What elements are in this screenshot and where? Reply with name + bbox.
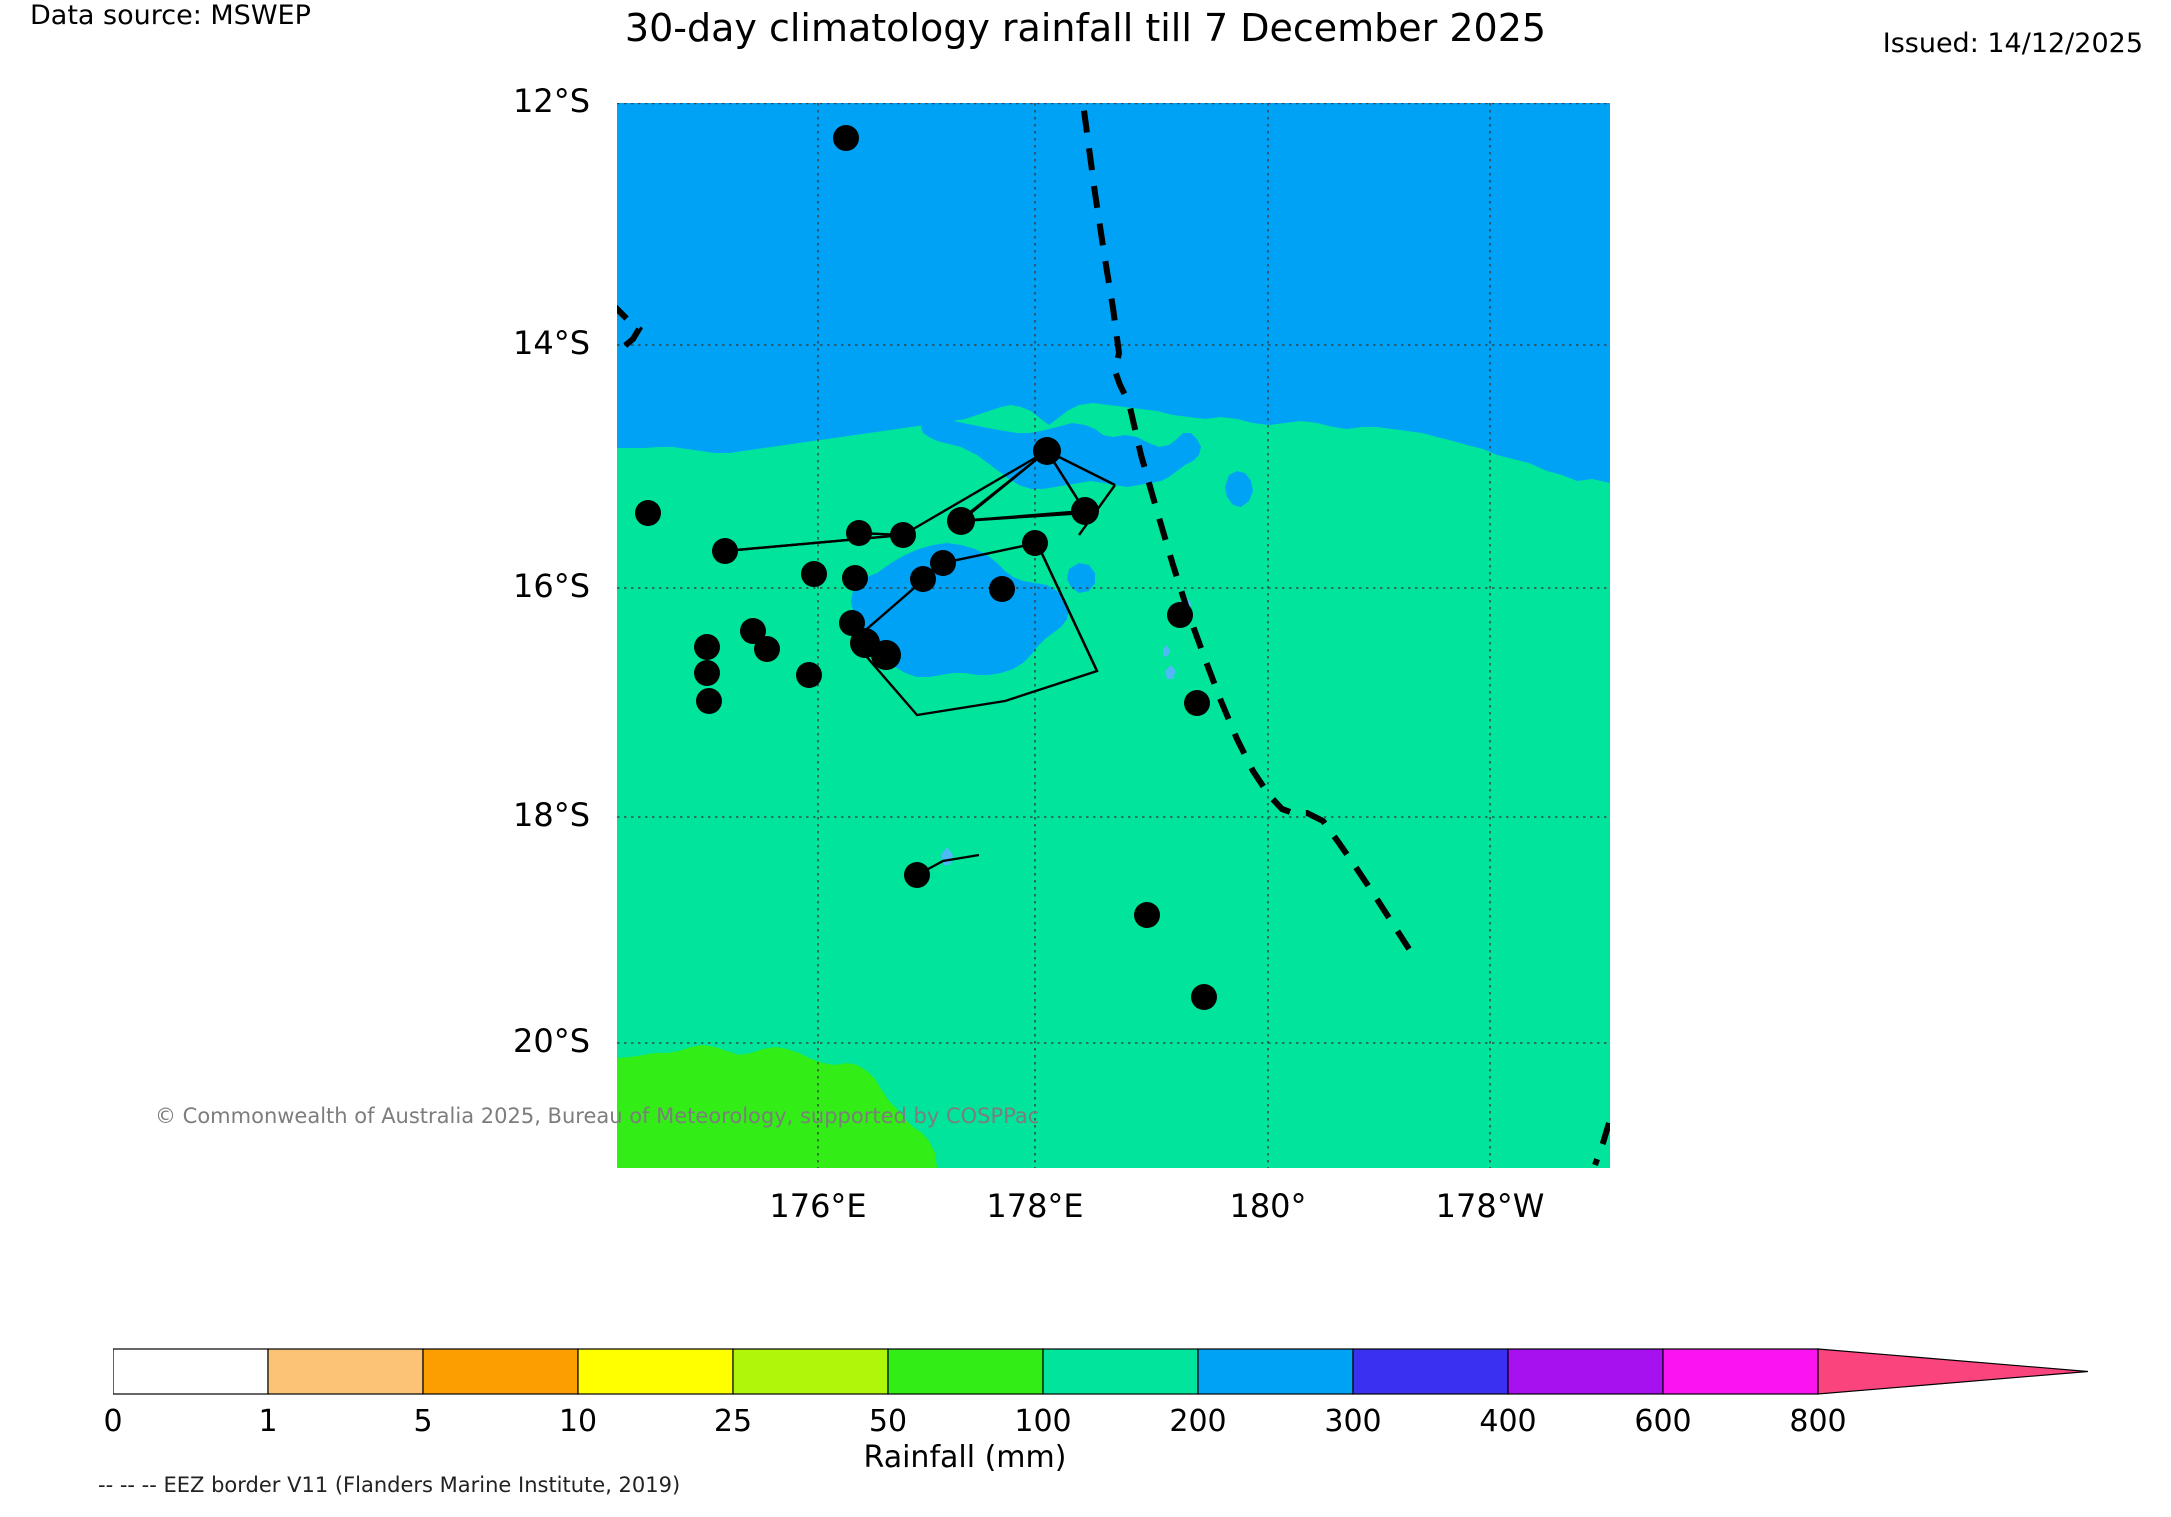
xtick-label-180: 180° [1229,1187,1306,1225]
colorbar-segment-10-25 [578,1349,733,1394]
colorbar-segment-100-200 [1043,1349,1198,1394]
station-dot [754,636,780,662]
station-dot [846,520,872,546]
colorbar-tick-25: 25 [714,1404,752,1439]
colorbar-segment-400-600 [1508,1349,1663,1394]
map-canvas [617,103,1610,1168]
colorbar [113,1348,2088,1396]
station-dot [1184,690,1210,716]
station-dot [904,862,930,888]
station-dot [1071,497,1099,525]
station-dot [1134,902,1160,928]
station-dot [842,565,868,591]
ytick-label-12S: 12°S [400,82,590,120]
colorbar-tick-100: 100 [1014,1404,1071,1439]
ytick-label-16S: 16°S [400,567,590,605]
station-dot [1022,530,1048,556]
colorbar-tick-800: 800 [1789,1404,1846,1439]
station-dot [871,640,901,670]
issued-date-label: Issued: 14/12/2025 [1883,28,2143,59]
station-dot [947,507,975,535]
colorbar-segment-5-10 [423,1349,578,1394]
ytick-label-20S: 20°S [400,1022,590,1060]
ytick-label-18S: 18°S [400,796,590,834]
station-dot [635,500,661,526]
colorbar-tick-10: 10 [559,1404,597,1439]
colorbar-segment-600-800 [1663,1349,1818,1394]
colorbar-over-arrow [1818,1349,2088,1394]
colorbar-tick-300: 300 [1324,1404,1381,1439]
colorbar-segment-200-300 [1198,1349,1353,1394]
station-dot [833,125,859,151]
colorbar-tick-1: 1 [258,1404,277,1439]
colorbar-tick-200: 200 [1169,1404,1226,1439]
colorbar-tick-50: 50 [869,1404,907,1439]
colorbar-tick-0: 0 [103,1404,122,1439]
colorbar-segment-1-5 [268,1349,423,1394]
station-dot [1033,437,1061,465]
station-dot [796,662,822,688]
colorbar-segment-25-50 [733,1349,888,1394]
colorbar-tick-400: 400 [1479,1404,1536,1439]
colorbar-axis-label: Rainfall (mm) [113,1440,1817,1475]
xtick-label-178W: 178°W [1436,1187,1545,1225]
station-dot [890,522,916,548]
station-dot [694,660,720,686]
colorbar-tick-5: 5 [413,1404,432,1439]
xtick-label-176E: 176°E [769,1187,866,1225]
station-dot [712,538,738,564]
colorbar-segment-50-100 [888,1349,1043,1394]
rainfall-map [617,103,1610,1168]
copyright-notice: © Commonwealth of Australia 2025, Bureau… [155,1104,1039,1128]
colorbar-tick-600: 600 [1634,1404,1691,1439]
station-dot [910,566,936,592]
station-dot [1167,602,1193,628]
ytick-label-14S: 14°S [400,324,590,362]
station-dot [1191,984,1217,1010]
station-dot [694,634,720,660]
station-dot [696,688,722,714]
xtick-label-178E: 178°E [986,1187,1083,1225]
station-dot [801,561,827,587]
colorbar-canvas [113,1348,2088,1396]
colorbar-segment-300-400 [1353,1349,1508,1394]
station-dot [989,576,1015,602]
page-title: 30-day climatology rainfall till 7 Decem… [0,6,2171,50]
eez-border-legend-note: -- -- -- EEZ border V11 (Flanders Marine… [98,1473,680,1497]
colorbar-segments [113,1349,1818,1394]
colorbar-segment-0-1 [113,1349,268,1394]
